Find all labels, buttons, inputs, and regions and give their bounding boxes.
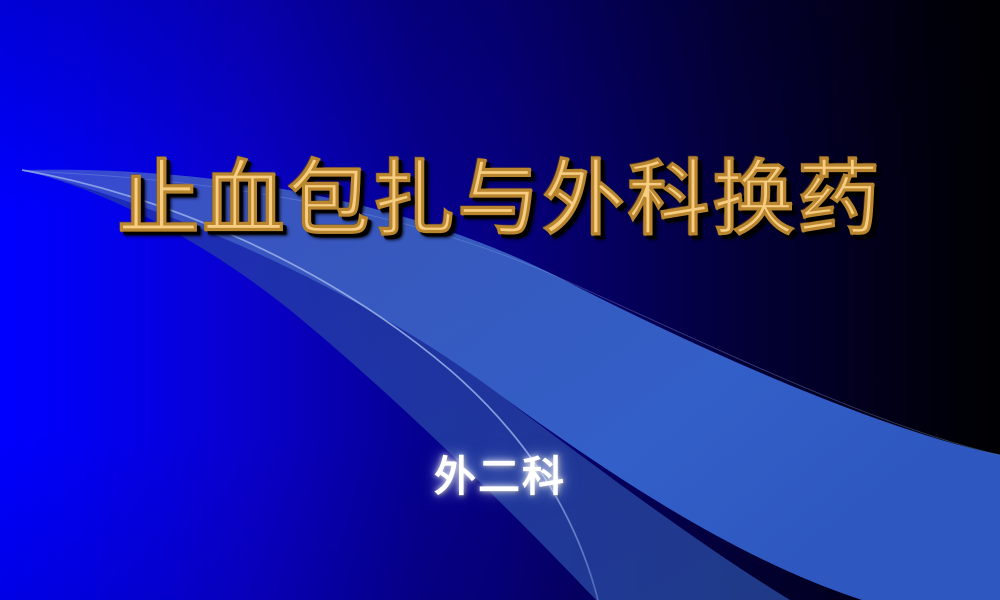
- title-slide: 止血包扎与外科换药 外二科: [0, 0, 1000, 600]
- slide-subtitle: 外二科: [434, 443, 566, 504]
- page-title: 止血包扎与外科换药: [117, 158, 882, 242]
- slide-title-container: 止血包扎与外科换药: [0, 158, 1000, 242]
- slide-subtitle-container: 外二科: [0, 443, 1000, 504]
- slide-background-vignette: [0, 0, 1000, 600]
